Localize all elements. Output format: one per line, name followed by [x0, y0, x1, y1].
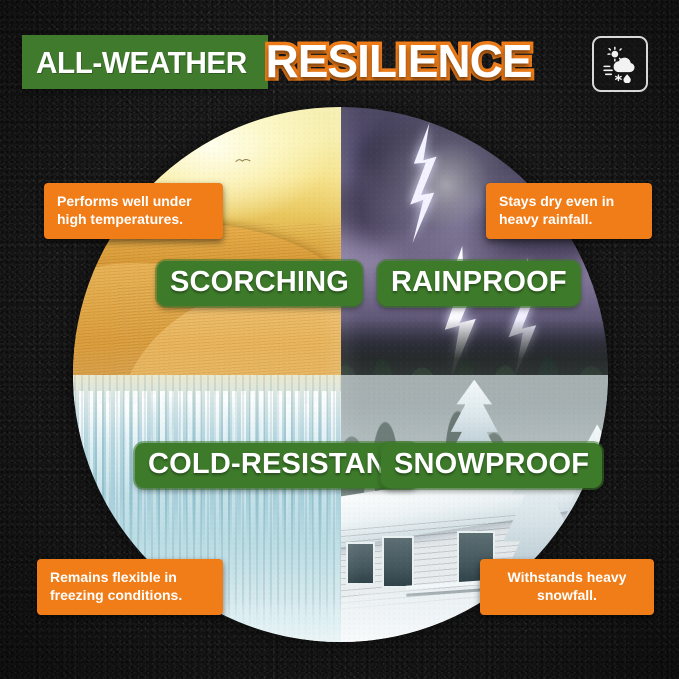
- caption-rainproof: Stays dry even in heavy rainfall.: [486, 183, 652, 239]
- title-green-block: ALL-WEATHER: [22, 35, 268, 89]
- bird-silhouette: [235, 157, 251, 164]
- desert-scene: [73, 107, 341, 375]
- quadrant-scorching-scene: [73, 107, 341, 375]
- badge-title-cold-resistant: COLD-RESISTANT: [135, 443, 418, 488]
- lightning-bolt-icon: [396, 123, 458, 243]
- caption-cold-resistant: Remains flexible in freezing conditions.: [37, 559, 223, 615]
- badge-title-rainproof: RAINPROOF: [378, 261, 580, 306]
- mixed-weather-icon: [592, 36, 648, 92]
- badge-title-scorching: SCORCHING: [157, 261, 362, 306]
- page-title-part2: RESILIENCE: [266, 38, 532, 84]
- infographic-canvas: ALL-WEATHER RESILIENCE: [0, 0, 679, 679]
- page-title-part1: ALL-WEATHER: [36, 47, 247, 78]
- header-banner: ALL-WEATHER RESILIENCE: [22, 32, 532, 92]
- caption-scorching: Performs well under high temperatures.: [44, 183, 223, 239]
- storm-scene: [341, 107, 609, 375]
- cabin-window: [346, 542, 375, 585]
- cabin-window: [382, 536, 414, 588]
- dark-treeline: [341, 319, 609, 374]
- caption-snowproof: Withstands heavy snowfall.: [480, 559, 654, 615]
- quadrant-rainproof-scene: [341, 107, 609, 375]
- badge-title-snowproof: SNOWPROOF: [381, 443, 602, 488]
- mixed-weather-glyph: [601, 45, 639, 83]
